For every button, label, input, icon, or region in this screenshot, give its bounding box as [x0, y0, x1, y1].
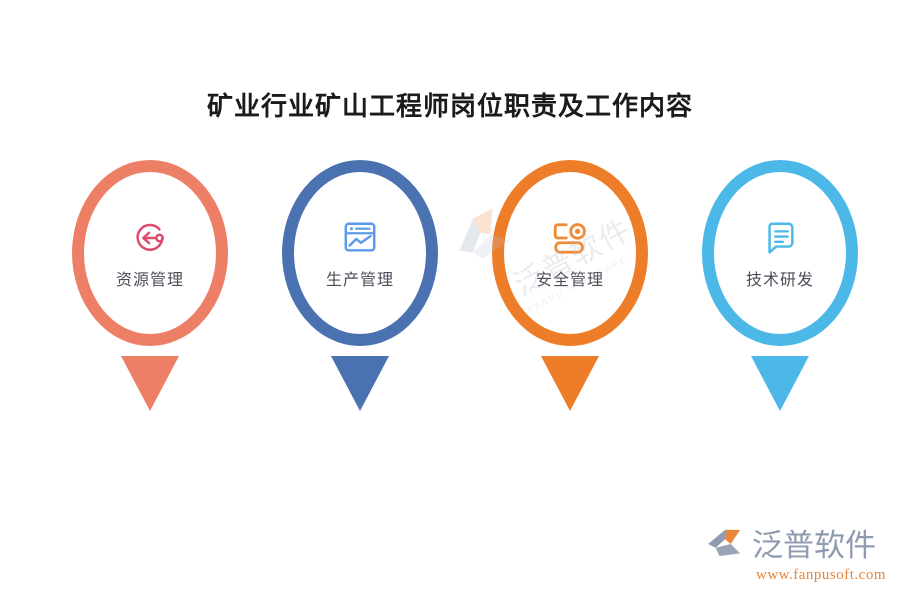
pin-circle[interactable]: 资源管理 [72, 160, 228, 346]
pin-pointer-triangle [331, 356, 389, 411]
brand-name: 泛普软件 [752, 530, 876, 561]
pin-label: 技术研发 [746, 266, 814, 290]
pin-circle[interactable]: 生产管理 [282, 160, 438, 346]
chart-report-icon [337, 216, 383, 260]
document-lines-icon [757, 216, 803, 260]
pin-item-technology-rnd[interactable]: 技术研发 [675, 160, 885, 411]
pin-label: 生产管理 [326, 266, 394, 290]
pin-circle[interactable]: 技术研发 [702, 160, 858, 346]
circular-arrow-icon [127, 216, 173, 260]
brand-logo: 泛普软件 www.fanpusoft.com [706, 526, 886, 586]
pin-row: 资源管理 生产管理 [0, 160, 900, 420]
pin-pointer-triangle [541, 356, 599, 411]
pin-pointer-triangle [751, 356, 809, 411]
pin-item-resource-management[interactable]: 资源管理 [45, 160, 255, 411]
pin-label: 安全管理 [536, 266, 604, 290]
pin-item-safety-management[interactable]: 安全管理 [465, 160, 675, 411]
pin-item-production-management[interactable]: 生产管理 [255, 160, 465, 411]
pin-label: 资源管理 [116, 266, 184, 290]
pin-pointer-triangle [121, 356, 179, 411]
brand-url: www.fanpusoft.com [706, 567, 886, 584]
brand-logo-mark [706, 527, 746, 564]
page-title: 矿业行业矿山工程师岗位职责及工作内容 [0, 86, 900, 123]
infographic-canvas: 矿业行业矿山工程师岗位职责及工作内容 资源管理 [0, 0, 900, 600]
pin-circle[interactable]: 安全管理 [492, 160, 648, 346]
camera-monitor-icon [547, 216, 593, 260]
